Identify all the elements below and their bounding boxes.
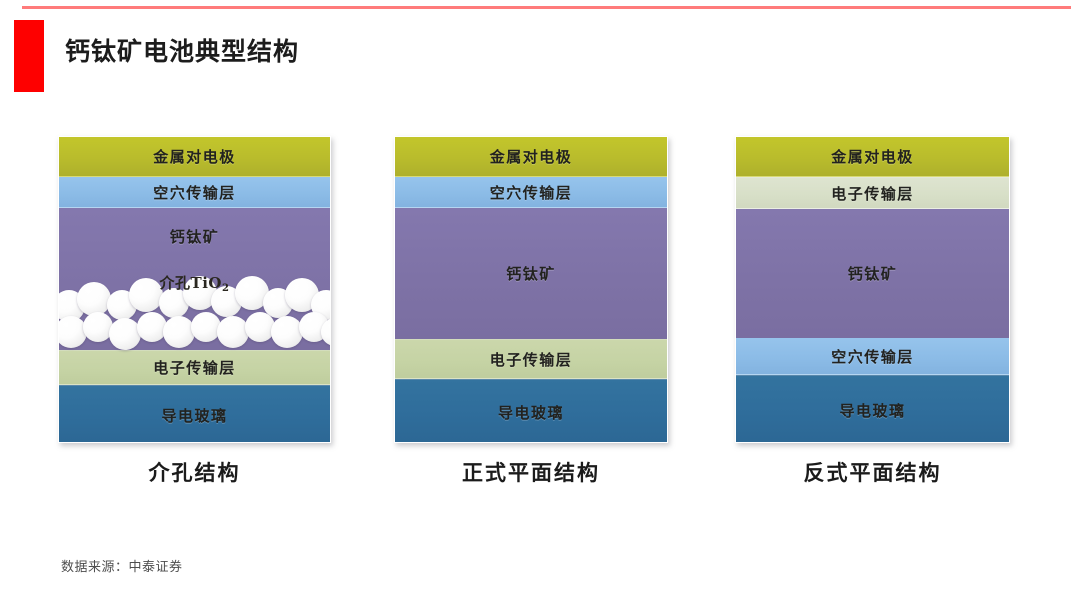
diagram-mesoporous[interactable]: 金属对电极 空穴传输层 钙钛矿: [58, 136, 331, 443]
layer-label: 导电玻璃: [498, 402, 564, 423]
layer-label: 金属对电极: [490, 146, 573, 167]
layer-conductive-glass: 导电玻璃: [59, 385, 330, 443]
layer-stack: 金属对电极 电子传输层 钙钛矿 空穴传输层 导电玻璃: [735, 136, 1010, 443]
caption-regular-planar: 正式平面结构: [394, 457, 668, 487]
layer-label: 钙钛矿: [506, 263, 556, 284]
mesoporous-tio2-label-subscript: 2: [222, 283, 229, 294]
layer-label: 空穴传输层: [490, 182, 573, 203]
layer-label: 电子传输层: [831, 183, 914, 204]
layer-stack: 金属对电极 空穴传输层 钙钛矿: [58, 136, 331, 443]
layer-conductive-glass: 导电玻璃: [395, 379, 667, 443]
layer-label: 空穴传输层: [153, 182, 236, 203]
diagram-inverted-planar[interactable]: 金属对电极 电子传输层 钙钛矿 空穴传输层 导电玻璃: [735, 136, 1010, 443]
layer-electron-transport: 电子传输层: [59, 350, 330, 385]
layer-label: 钙钛矿: [848, 263, 898, 284]
layer-hole-transport: 空穴传输层: [395, 177, 667, 208]
layer-conductive-glass: 导电玻璃: [736, 375, 1009, 443]
caption-mesoporous: 介孔结构: [58, 457, 331, 487]
layer-hole-transport: 空穴传输层: [736, 338, 1009, 375]
layer-label: 空穴传输层: [831, 346, 914, 367]
layer-perovskite: 钙钛矿: [59, 208, 330, 350]
layer-electron-transport: 电子传输层: [395, 339, 667, 379]
source-note: 数据来源：中泰证券: [61, 556, 183, 575]
layer-label: 电子传输层: [153, 357, 236, 378]
layer-perovskite: 钙钛矿: [736, 209, 1009, 338]
layer-label: 导电玻璃: [161, 405, 227, 426]
layer-electron-transport: 电子传输层: [736, 177, 1009, 209]
layer-hole-transport: 空穴传输层: [59, 177, 330, 208]
caption-inverted-planar: 反式平面结构: [735, 457, 1010, 487]
layer-stack: 金属对电极 空穴传输层 钙钛矿 电子传输层 导电玻璃: [394, 136, 668, 443]
layer-label: 电子传输层: [490, 349, 573, 370]
layer-metal-electrode: 金属对电极: [736, 137, 1009, 177]
layer-label: 导电玻璃: [839, 400, 905, 421]
layer-perovskite: 钙钛矿: [395, 208, 667, 339]
layer-label: 金属对电极: [153, 146, 236, 167]
diagram-regular-planar[interactable]: 金属对电极 空穴传输层 钙钛矿 电子传输层 导电玻璃: [394, 136, 668, 443]
mesoporous-tio2-label-text: 介孔TiO: [160, 274, 222, 292]
diagram-gallery: 金属对电极 空穴传输层 钙钛矿: [0, 0, 1080, 597]
layer-metal-electrode: 金属对电极: [59, 137, 330, 177]
layer-metal-electrode: 金属对电极: [395, 137, 667, 177]
layer-label: 金属对电极: [831, 146, 914, 167]
mesoporous-tio2-label: 介孔TiO2: [59, 272, 330, 293]
layer-label: 钙钛矿: [59, 226, 330, 247]
